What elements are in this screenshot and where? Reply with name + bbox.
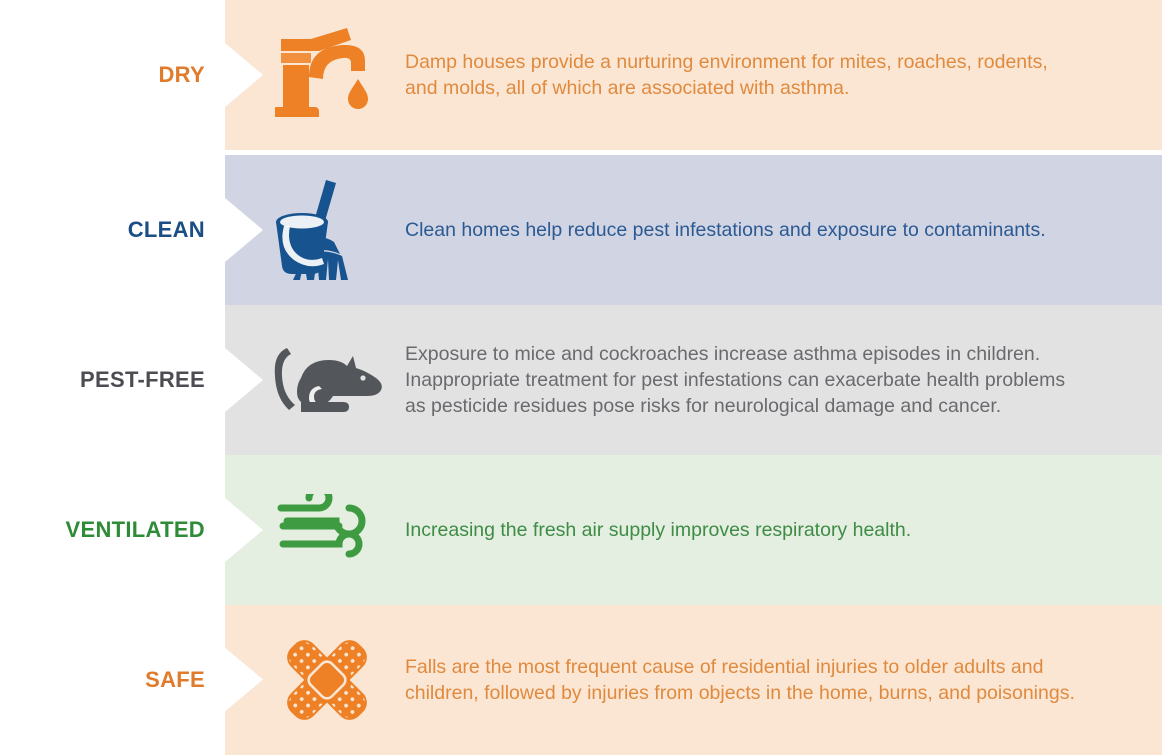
description-column-dry: Damp houses provide a nurturing environm…: [405, 0, 1150, 150]
description-line: children, followed by injuries from obje…: [405, 680, 1150, 706]
description-line: Falls are the most frequent cause of res…: [405, 654, 1150, 680]
description-column-safe: Falls are the most frequent cause of res…: [405, 605, 1150, 755]
label-column-clean: CLEAN: [0, 155, 213, 305]
description-line: Inappropriate treatment for pest infesta…: [405, 367, 1150, 393]
faucet-dripping-icon: [275, 27, 379, 123]
icon-column-pest-free: [262, 305, 392, 455]
icon-column-ventilated: [262, 455, 392, 605]
principle-row-ventilated: VENTILATED Increasing the fresh air supp…: [0, 455, 1162, 605]
icon-column-dry: [262, 0, 392, 150]
description-column-pest-free: Exposure to mice and cockroaches increas…: [405, 305, 1150, 455]
label-column-ventilated: VENTILATED: [0, 455, 213, 605]
description-column-clean: Clean homes help reduce pest infestation…: [405, 155, 1150, 305]
description-column-ventilated: Increasing the fresh air supply improves…: [405, 455, 1150, 605]
principle-row-safe: SAFE: [0, 605, 1162, 755]
label-column-dry: DRY: [0, 0, 213, 150]
description-line: Increasing the fresh air supply improves…: [405, 517, 1150, 543]
description-line: and molds, all of which are associated w…: [405, 75, 1150, 101]
mouse-rodent-icon: [271, 340, 383, 420]
principle-row-clean: CLEAN Clean homes help reduce pest infes…: [0, 155, 1162, 305]
description-line: as pesticide residues pose risks for neu…: [405, 393, 1150, 419]
principle-label-pest-free: PEST-FREE: [80, 367, 213, 393]
crossed-bandages-icon: [275, 628, 379, 732]
description-line: Damp houses provide a nurturing environm…: [405, 49, 1150, 75]
icon-column-clean: [262, 155, 392, 305]
principle-row-pest-free: PEST-FREE Exposure to mice and cockroach…: [0, 305, 1162, 455]
healthy-homes-infographic: DRY Damp houses provide a nurturing envi…: [0, 0, 1162, 756]
principle-label-ventilated: VENTILATED: [66, 517, 213, 543]
icon-column-safe: [262, 605, 392, 755]
label-column-pest-free: PEST-FREE: [0, 305, 213, 455]
principle-label-safe: SAFE: [145, 667, 213, 693]
description-line: Clean homes help reduce pest infestation…: [405, 217, 1150, 243]
description-line: Exposure to mice and cockroaches increas…: [405, 341, 1150, 367]
principle-row-dry: DRY Damp houses provide a nurturing envi…: [0, 0, 1162, 150]
wind-airflow-icon: [277, 494, 377, 566]
principle-label-clean: CLEAN: [128, 217, 213, 243]
principle-label-dry: DRY: [158, 62, 213, 88]
label-column-safe: SAFE: [0, 605, 213, 755]
bucket-and-broom-icon: [274, 178, 380, 282]
